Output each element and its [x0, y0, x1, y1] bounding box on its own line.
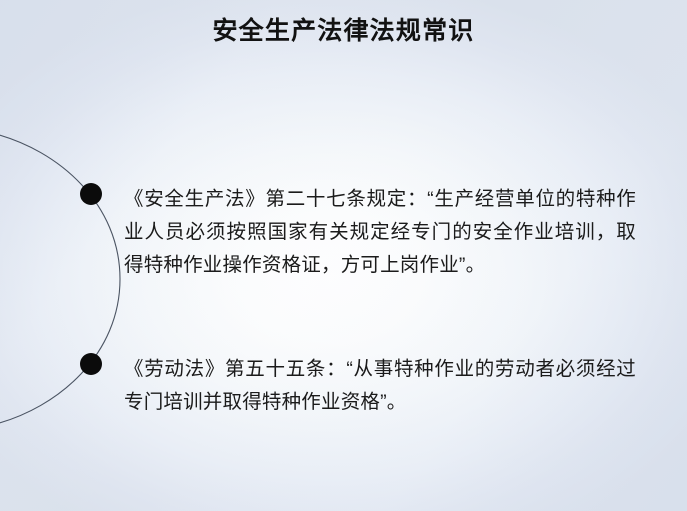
bullet-marker-1: [80, 183, 102, 205]
bullet-text-2: 《劳动法》第五十五条：“从事特种作业的劳动者必须经过专门培训并取得特种作业资格”…: [124, 353, 636, 419]
bullet-text-1: 《安全生产法》第二十七条规定：“生产经营单位的特种作业人员必须按照国家有关规定经…: [124, 183, 636, 282]
page-title: 安全生产法律法规常识: [0, 15, 687, 47]
bullet-marker-2: [80, 353, 102, 375]
slide-canvas: 安全生产法律法规常识 《安全生产法》第二十七条规定：“生产经营单位的特种作业人员…: [0, 0, 687, 511]
